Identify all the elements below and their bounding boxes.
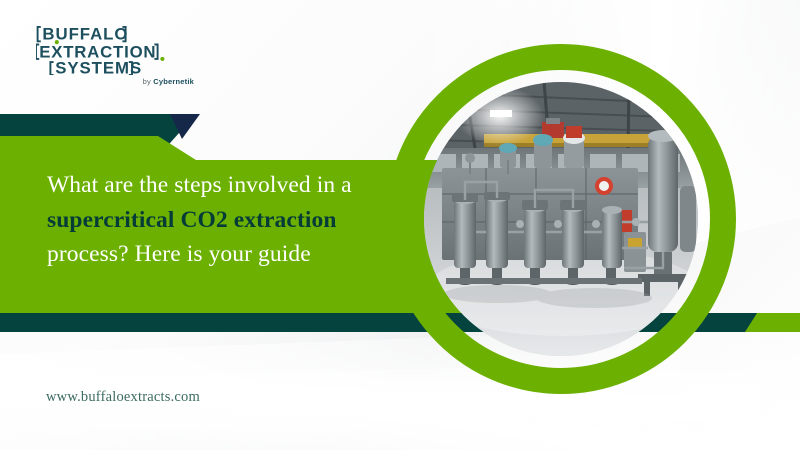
circular-media-block: [386, 44, 800, 394]
extraction-system-photo: [424, 82, 698, 356]
bracketed-wordmark-logo: BUFFALO EXTRACTION SYSTEMS: [36, 22, 196, 75]
banner-canvas: BUFFALO EXTRACTION SYSTEMS by Cybernetik…: [0, 0, 800, 450]
brand-logo[interactable]: BUFFALO EXTRACTION SYSTEMS by Cybernetik: [36, 22, 196, 86]
factory-scene-illustration: [424, 82, 698, 356]
headline-emphasis: supercritical CO2 extraction: [47, 207, 337, 233]
logo-byline-name: Cybernetik: [153, 77, 194, 86]
headline-part-1: What are the steps involved in a: [47, 172, 352, 198]
logo-byline-prefix: by: [143, 77, 154, 86]
svg-text:SYSTEMS: SYSTEMS: [55, 58, 142, 75]
logo-byline: by Cybernetik: [36, 77, 196, 86]
website-url[interactable]: www.buffaloextracts.com: [46, 389, 200, 406]
headline-part-2: process? Here is your guide: [47, 241, 311, 267]
page-title: What are the steps involved in a supercr…: [47, 168, 377, 272]
